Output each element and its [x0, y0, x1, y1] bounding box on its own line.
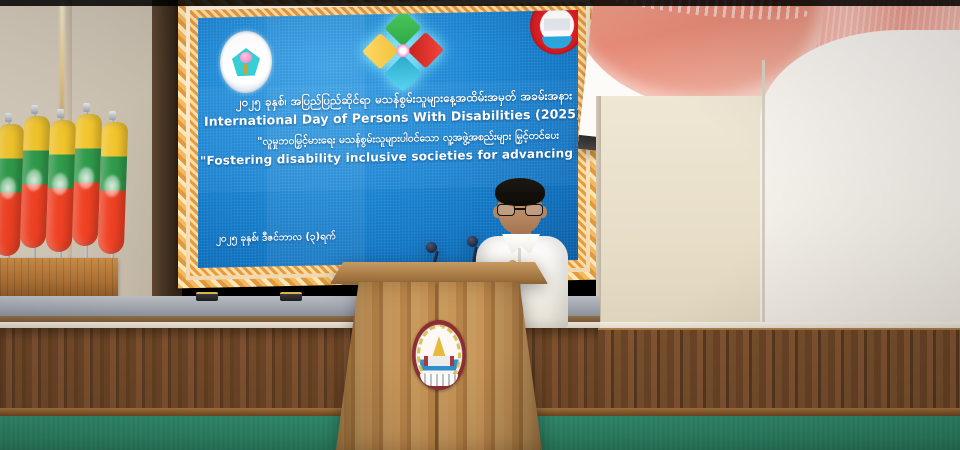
four-hands-diamond-icon — [362, 10, 444, 92]
podium-top-surface — [330, 262, 548, 284]
wall-seam-line — [762, 60, 765, 330]
emblem-water — [542, 36, 572, 49]
curved-white-wall — [760, 30, 960, 330]
led-text-block: ၂၀၂၅ ခုနှစ်၊ အပြည်ပြည်ဆိုင်ရာ မသန်စွမ်းသ… — [204, 88, 576, 169]
cream-wall-panel — [598, 96, 768, 331]
flag-finial — [31, 105, 38, 114]
led-date-text: ၂၀၂၅ ခုနှစ်၊ ဒီဇင်ဘာလ (၃)ရက် — [216, 229, 336, 247]
flag-stand-base — [0, 258, 118, 298]
led-line-en-theme: "Fostering disability inclusive societie… — [200, 146, 572, 169]
glasses-lens-right — [525, 204, 543, 216]
hand-cyan — [385, 55, 422, 92]
emblem-pagoda-spire — [432, 336, 446, 358]
mic-head — [467, 236, 478, 247]
flag-finial — [5, 113, 12, 122]
emblem-city-wall — [424, 356, 454, 366]
ministry-emblem-shape — [232, 48, 260, 77]
led-line-en-title: International Day of Persons With Disabi… — [204, 106, 576, 129]
glasses-lens-left — [497, 204, 515, 216]
glasses-icon — [496, 204, 544, 216]
flag-finial — [83, 103, 90, 112]
flag-finial — [109, 111, 116, 120]
logo-center-dot — [394, 41, 412, 59]
flag-cloth — [98, 122, 129, 254]
conference-hall-scene: ၂၀၂၅ ခုနှစ်၊ အပြည်ပြည်ဆိုင်ရာ မသန်စွမ်းသ… — [0, 0, 960, 450]
state-emblem-icon — [530, 10, 578, 55]
ministry-emblem-icon — [220, 30, 272, 93]
emblem-wall — [544, 18, 570, 31]
top-dark-edge — [0, 0, 960, 6]
mic-head — [426, 242, 437, 253]
glasses-bridge — [515, 208, 525, 210]
emblem-star-icon: ★ — [435, 325, 443, 334]
naypyidaw-council-emblem-icon: ★ — [412, 320, 466, 390]
emblem-cogwheel — [420, 374, 458, 386]
speaker-hair — [495, 178, 545, 206]
stage-equipment-box — [280, 292, 302, 301]
stage-equipment-box — [196, 292, 218, 301]
speaking-podium: ★ — [330, 262, 548, 450]
hand-red — [407, 32, 444, 69]
flag-finial — [57, 109, 64, 118]
pillar-light-strip — [60, 0, 64, 120]
